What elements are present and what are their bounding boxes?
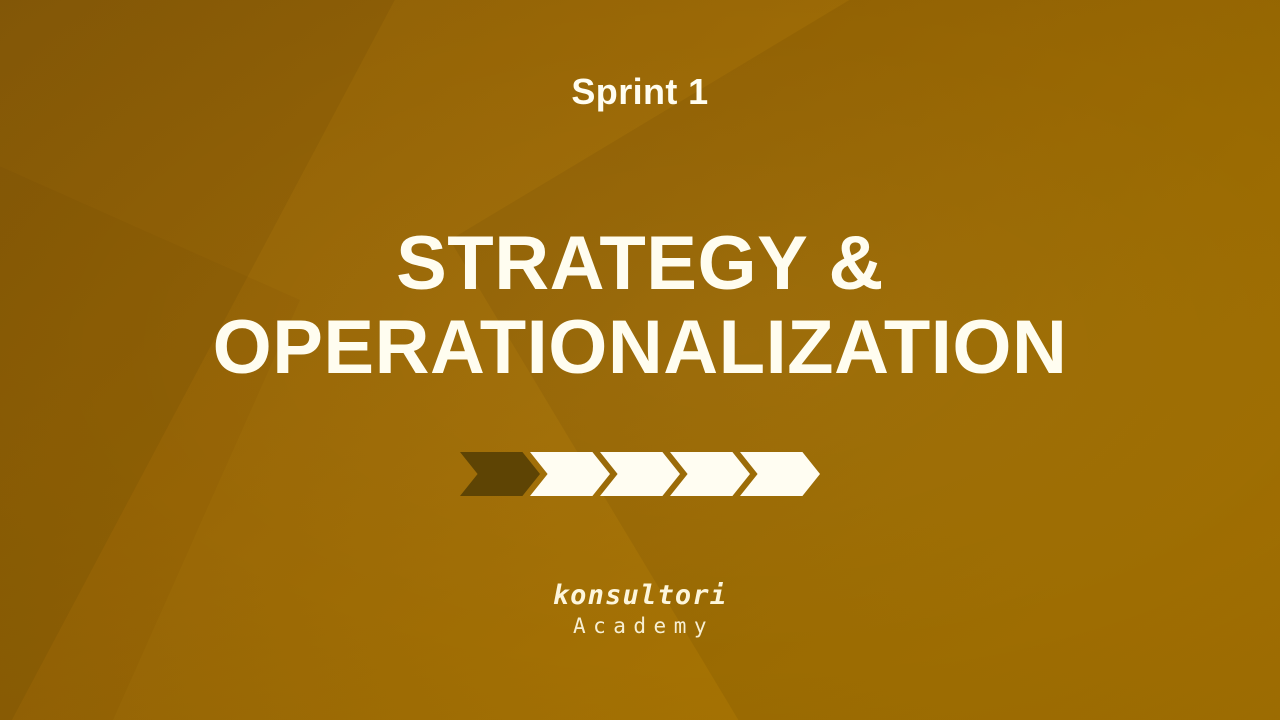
chevron-step-2 (530, 452, 610, 496)
slide-title: STRATEGY & OPERATIONALIZATION (0, 222, 1280, 389)
progress-chevrons (0, 452, 1280, 498)
chevron-step-3 (600, 452, 680, 496)
brand-sub-name: Academy (0, 611, 1280, 641)
brand-name: konsultori (0, 580, 1280, 611)
sprint-label: Sprint 1 (0, 74, 1280, 110)
presentation-slide: Sprint 1 STRATEGY & OPERATIONALIZATION k… (0, 0, 1280, 720)
chevron-step-1 (460, 452, 540, 496)
chevron-step-4 (670, 452, 750, 496)
brand-logo: konsultori Academy (0, 580, 1280, 641)
chevron-step-5 (740, 452, 820, 496)
slide-content: Sprint 1 STRATEGY & OPERATIONALIZATION k… (0, 0, 1280, 720)
